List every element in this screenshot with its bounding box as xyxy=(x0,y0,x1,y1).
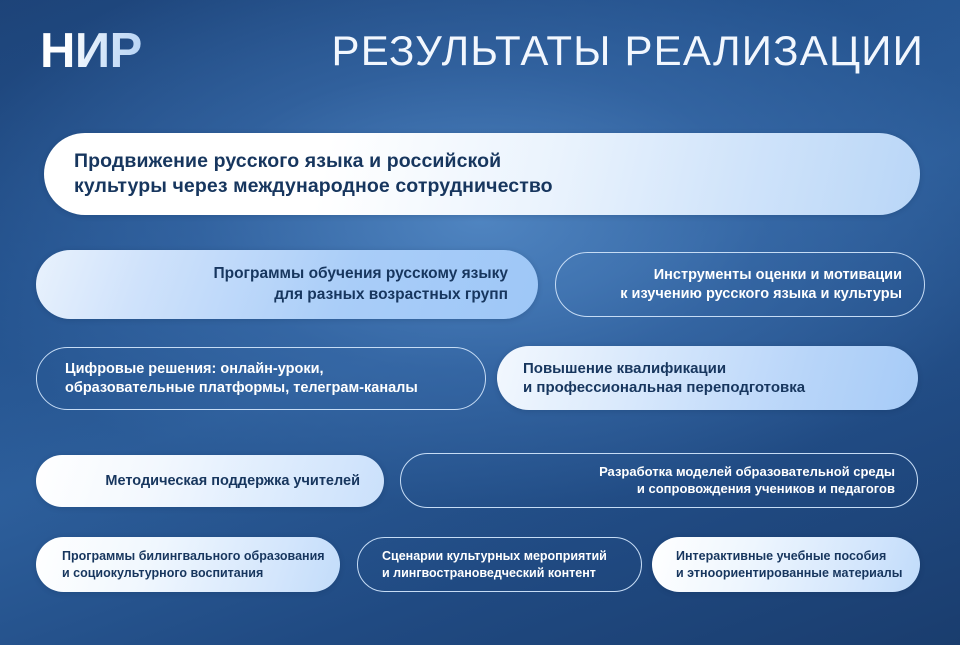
card-qualification: Повышение квалификации и профессиональна… xyxy=(497,346,918,410)
card-tools-line-1: Инструменты оценки и мотивации xyxy=(654,266,902,285)
card-models-line-2: и сопровождения учеников и педагогов xyxy=(637,481,895,498)
banner-line-2: культуры через международное сотрудничес… xyxy=(74,174,553,199)
card-interactive: Интерактивные учебные пособия и этноорие… xyxy=(652,537,920,592)
card-models: Разработка моделей образовательной среды… xyxy=(400,453,918,508)
card-tools-line-2: к изучению русского языка и культуры xyxy=(620,285,902,304)
card-tools: Инструменты оценки и мотивации к изучени… xyxy=(555,252,925,317)
banner-line-1: Продвижение русского языка и российской xyxy=(74,149,501,174)
card-digital-solutions: Цифровые решения: онлайн-уроки, образова… xyxy=(36,347,486,410)
nir-logo: НИР xyxy=(40,27,142,76)
card-methodical-support-line-1: Методическая поддержка учителей xyxy=(105,472,360,491)
card-interactive-line-2: и этноориентированные материалы xyxy=(676,565,902,581)
page-title: РЕЗУЛЬТАТЫ РЕАЛИЗАЦИИ xyxy=(332,30,924,72)
card-digital-solutions-line-2: образовательные платформы, телеграм-кана… xyxy=(65,379,418,398)
card-bilingual-line-1: Программы билингвального образования xyxy=(62,548,325,564)
card-programs-line-2: для разных возрастных групп xyxy=(274,285,508,305)
card-methodical-support: Методическая поддержка учителей xyxy=(36,455,384,507)
card-programs: Программы обучения русскому языку для ра… xyxy=(36,250,538,319)
banner-card: Продвижение русского языка и российской … xyxy=(44,133,920,215)
card-scenarios-line-1: Сценарии культурных мероприятий xyxy=(382,548,607,564)
card-bilingual: Программы билингвального образования и с… xyxy=(36,537,340,592)
slide-canvas: НИР РЕЗУЛЬТАТЫ РЕАЛИЗАЦИИ Продвижение ру… xyxy=(0,0,960,645)
card-digital-solutions-line-1: Цифровые решения: онлайн-уроки, xyxy=(65,360,324,379)
card-scenarios: Сценарии культурных мероприятий и лингво… xyxy=(357,537,642,592)
card-interactive-line-1: Интерактивные учебные пособия xyxy=(676,548,886,564)
card-models-line-1: Разработка моделей образовательной среды xyxy=(599,464,895,481)
card-qualification-line-2: и профессиональная переподготовка xyxy=(523,378,805,398)
card-programs-line-1: Программы обучения русскому языку xyxy=(213,264,508,284)
card-bilingual-line-2: и социокультурного воспитания xyxy=(62,565,263,581)
card-scenarios-line-2: и лингвострановедческий контент xyxy=(382,565,596,581)
card-qualification-line-1: Повышение квалификации xyxy=(523,359,726,379)
